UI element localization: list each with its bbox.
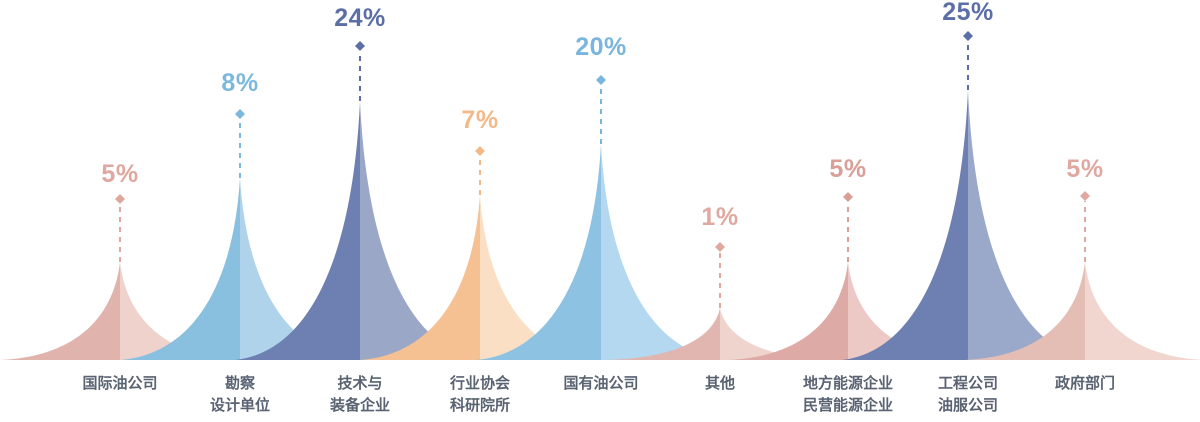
peak-international-oil-category-label: 国际油公司 xyxy=(82,373,157,395)
peak-survey-design-value-label: 8% xyxy=(221,71,258,96)
peak-state-oil-value-label: 20% xyxy=(575,35,627,60)
peak-local-private-energy-category-label: 地方能源企业民营能源企业 xyxy=(803,373,893,417)
peak-other-category-label: 其他 xyxy=(705,373,735,395)
peak-engineering-oilfield-service-category-label: 工程公司油服公司 xyxy=(938,373,998,417)
peak-other-apex-marker-icon xyxy=(715,242,725,252)
peak-engineering-oilfield-service-category-label-line2: 油服公司 xyxy=(938,395,998,417)
peak-industry-assoc-research-category-label-line1: 行业协会 xyxy=(450,375,510,392)
peak-engineering-oilfield-service-apex-marker-icon xyxy=(963,31,973,41)
peaks-area-svg xyxy=(0,0,1200,422)
peak-international-oil-apex-marker-icon xyxy=(115,194,125,204)
peak-local-private-energy-category-label-line2: 民营能源企业 xyxy=(803,395,893,417)
peak-local-private-energy-category-label-line1: 地方能源企业 xyxy=(803,375,893,392)
peak-government-value-label: 5% xyxy=(1066,157,1103,182)
peak-engineering-oilfield-service-value-label: 25% xyxy=(942,0,994,25)
peak-tech-equipment-category-label-line1: 技术与 xyxy=(337,375,382,392)
peak-local-private-energy-apex-marker-icon xyxy=(843,192,853,202)
peak-international-oil-value-label: 5% xyxy=(101,162,138,187)
peak-survey-design-category-label-line2: 设计单位 xyxy=(210,395,270,417)
peak-government-apex-marker-icon xyxy=(1080,191,1090,201)
peak-state-oil-category-label: 国有油公司 xyxy=(563,373,638,395)
peak-government-right-slope xyxy=(1085,262,1200,360)
peak-local-private-energy-value-label: 5% xyxy=(829,157,866,182)
peak-tech-equipment-category-label: 技术与装备企业 xyxy=(330,373,390,417)
peak-industry-assoc-research-apex-marker-icon xyxy=(475,146,485,156)
peak-state-oil-apex-marker-icon xyxy=(596,75,606,85)
peak-industry-assoc-research-category-label-line2: 科研院所 xyxy=(450,395,510,417)
mountain-peak-chart: 5%8%24%7%20%1%5%25%5% 国际油公司勘察设计单位技术与装备企业… xyxy=(0,0,1200,422)
peak-other-category-label-line1: 其他 xyxy=(705,375,735,392)
peak-state-oil-category-label-line1: 国有油公司 xyxy=(563,375,638,392)
peak-tech-equipment-category-label-line2: 装备企业 xyxy=(330,395,390,417)
peak-engineering-oilfield-service-category-label-line1: 工程公司 xyxy=(938,375,998,392)
peak-survey-design-category-label-line1: 勘察 xyxy=(225,375,255,392)
peak-international-oil-left-slope xyxy=(0,262,120,360)
peak-tech-equipment-apex-marker-icon xyxy=(355,41,365,51)
peak-tech-equipment-value-label: 24% xyxy=(334,6,386,31)
peak-international-oil-category-label-line1: 国际油公司 xyxy=(82,375,157,392)
peak-industry-assoc-research-category-label: 行业协会科研院所 xyxy=(450,373,510,417)
peak-government-category-label: 政府部门 xyxy=(1055,373,1115,395)
peak-state-oil-right-slope xyxy=(601,144,726,360)
peak-industry-assoc-research-value-label: 7% xyxy=(461,108,498,133)
peak-survey-design-category-label: 勘察设计单位 xyxy=(210,373,270,417)
peak-government-category-label-line1: 政府部门 xyxy=(1055,375,1115,392)
peak-survey-design-apex-marker-icon xyxy=(235,109,245,119)
peak-other-value-label: 1% xyxy=(701,205,738,230)
